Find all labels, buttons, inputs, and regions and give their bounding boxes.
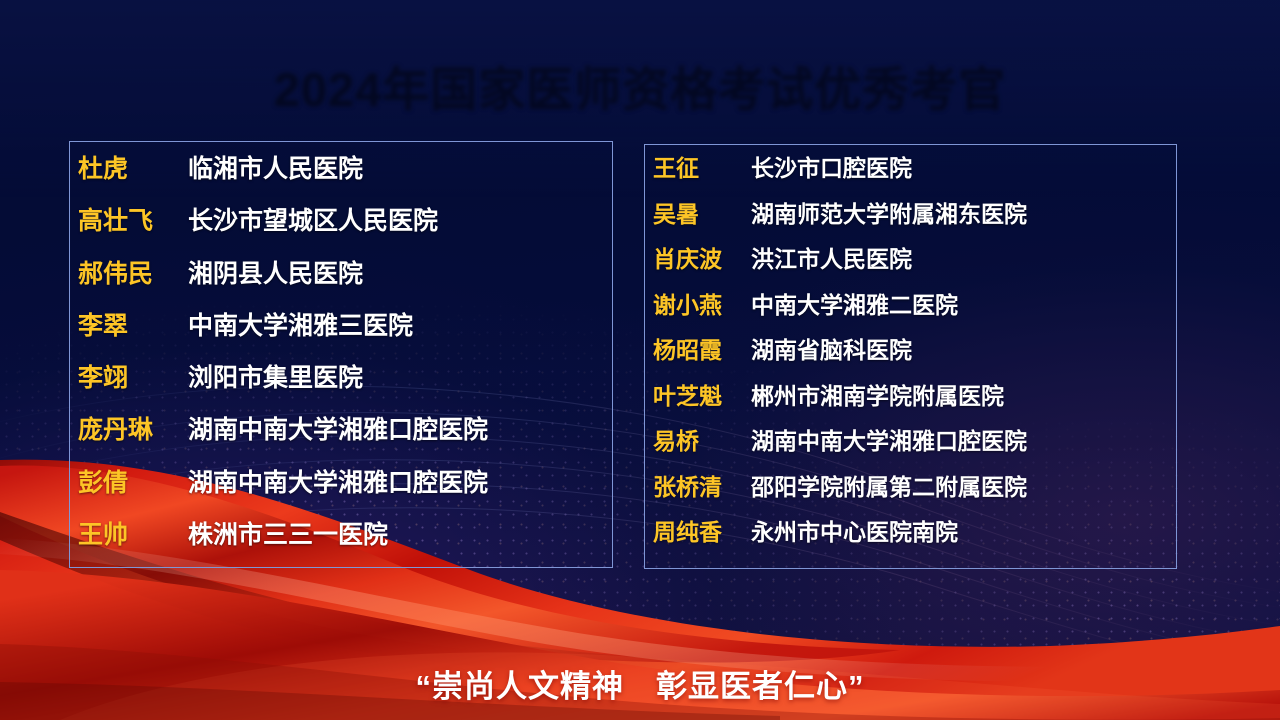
awardee-name: 杨昭霞 <box>653 331 751 365</box>
awardee-organization: 湖南师范大学附属湘东医院 <box>751 195 1027 229</box>
awardee-row: 周纯香 永州市中心医院南院 <box>653 513 1176 559</box>
awardee-organization: 郴州市湘南学院附属医院 <box>751 377 1004 411</box>
awardee-name: 王征 <box>653 149 751 183</box>
awardee-organization: 永州市中心医院南院 <box>751 513 958 547</box>
awardee-row: 彭倩 湖南中南大学湘雅口腔医院 <box>78 463 612 515</box>
awardee-name: 李翊 <box>78 358 188 394</box>
awardee-list-right: 王征 长沙市口腔医院 吴暑 湖南师范大学附属湘东医院 肖庆波 洪江市人民医院 谢… <box>645 145 1176 568</box>
awardee-row: 吴暑 湖南师范大学附属湘东医院 <box>653 195 1176 241</box>
awardee-name: 肖庆波 <box>653 240 751 274</box>
awardee-row: 肖庆波 洪江市人民医院 <box>653 240 1176 286</box>
awardee-panel-left: 杜虎 临湘市人民医院 高壮飞 长沙市望城区人民医院 郝伟民 湘阴县人民医院 李翠… <box>69 141 613 568</box>
awardee-row: 叶芝魁 郴州市湘南学院附属医院 <box>653 377 1176 423</box>
awardee-row: 李翊 浏阳市集里医院 <box>78 358 612 410</box>
awardee-name: 高壮飞 <box>78 201 188 237</box>
awardee-organization: 洪江市人民医院 <box>751 240 912 274</box>
awardee-name: 李翠 <box>78 306 188 342</box>
awardee-organization: 中南大学湘雅三医院 <box>188 306 413 342</box>
awardee-organization: 长沙市口腔医院 <box>751 149 912 183</box>
awardee-organization: 邵阳学院附属第二附属医院 <box>751 468 1027 502</box>
awardee-row: 庞丹琳 湖南中南大学湘雅口腔医院 <box>78 410 612 462</box>
page-title: 2024年国家医师资格考试优秀考官 <box>0 64 1280 111</box>
awardee-name: 易桥 <box>653 422 751 456</box>
awardee-name: 叶芝魁 <box>653 377 751 411</box>
awardee-row: 李翠 中南大学湘雅三医院 <box>78 306 612 358</box>
awardee-name: 王帅 <box>78 515 188 551</box>
awardee-name: 周纯香 <box>653 513 751 547</box>
awardee-name: 彭倩 <box>78 463 188 499</box>
awardee-name: 吴暑 <box>653 195 751 229</box>
awardee-organization: 湘阴县人民医院 <box>188 254 363 290</box>
awardee-list-left: 杜虎 临湘市人民医院 高壮飞 长沙市望城区人民医院 郝伟民 湘阴县人民医院 李翠… <box>70 142 612 567</box>
awardee-organization: 中南大学湘雅二医院 <box>751 286 958 320</box>
awardee-organization: 湖南中南大学湘雅口腔医院 <box>188 410 488 446</box>
awardee-row: 高壮飞 长沙市望城区人民医院 <box>78 201 612 253</box>
awardee-row: 张桥清 邵阳学院附属第二附属医院 <box>653 468 1176 514</box>
awardee-row: 谢小燕 中南大学湘雅二医院 <box>653 286 1176 332</box>
awardee-name: 谢小燕 <box>653 286 751 320</box>
awardee-panel-right: 王征 长沙市口腔医院 吴暑 湖南师范大学附属湘东医院 肖庆波 洪江市人民医院 谢… <box>644 144 1177 569</box>
awardee-organization: 湖南省脑科医院 <box>751 331 912 365</box>
awardee-organization: 浏阳市集里医院 <box>188 358 363 394</box>
awardee-organization: 株洲市三三一医院 <box>188 515 388 551</box>
awardee-row: 王征 长沙市口腔医院 <box>653 149 1176 195</box>
awardee-name: 杜虎 <box>78 149 188 185</box>
awardee-row: 杜虎 临湘市人民医院 <box>78 149 612 201</box>
awardee-organization: 长沙市望城区人民医院 <box>188 201 438 237</box>
awardee-row: 杨昭霞 湖南省脑科医院 <box>653 331 1176 377</box>
awardee-row: 易桥 湖南中南大学湘雅口腔医院 <box>653 422 1176 468</box>
awardee-name: 郝伟民 <box>78 254 188 290</box>
awardee-name: 庞丹琳 <box>78 410 188 446</box>
awardee-organization: 临湘市人民医院 <box>188 149 363 185</box>
awardee-name: 张桥清 <box>653 468 751 502</box>
presentation-slide: 2024年国家医师资格考试优秀考官 杜虎 临湘市人民医院 高壮飞 长沙市望城区人… <box>0 0 1280 720</box>
awardee-row: 王帅 株洲市三三一医院 <box>78 515 612 567</box>
awardee-organization: 湖南中南大学湘雅口腔医院 <box>751 422 1027 456</box>
awardee-organization: 湖南中南大学湘雅口腔医院 <box>188 463 488 499</box>
slide-slogan: “崇尚人文精神 彰显医者仁心” <box>0 661 1280 706</box>
awardee-row: 郝伟民 湘阴县人民医院 <box>78 254 612 306</box>
